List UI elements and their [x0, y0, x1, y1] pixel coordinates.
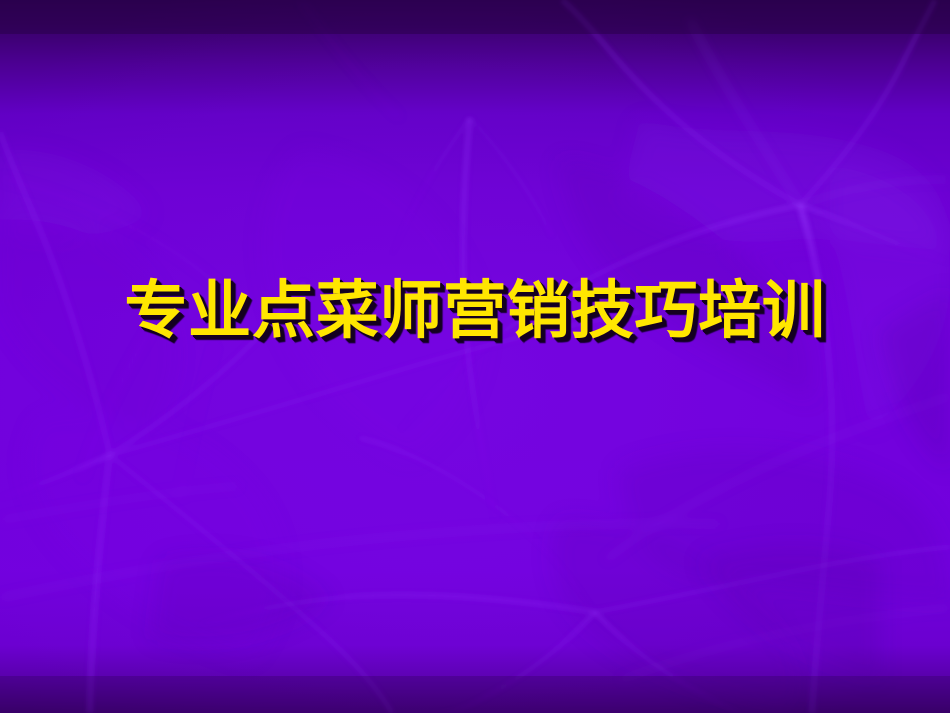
title-placeholder: 专业点菜师营销技巧培训: [0, 0, 950, 713]
slide-canvas: 专业点菜师营销技巧培训: [0, 0, 950, 713]
slide-title: 专业点菜师营销技巧培训: [124, 276, 825, 347]
